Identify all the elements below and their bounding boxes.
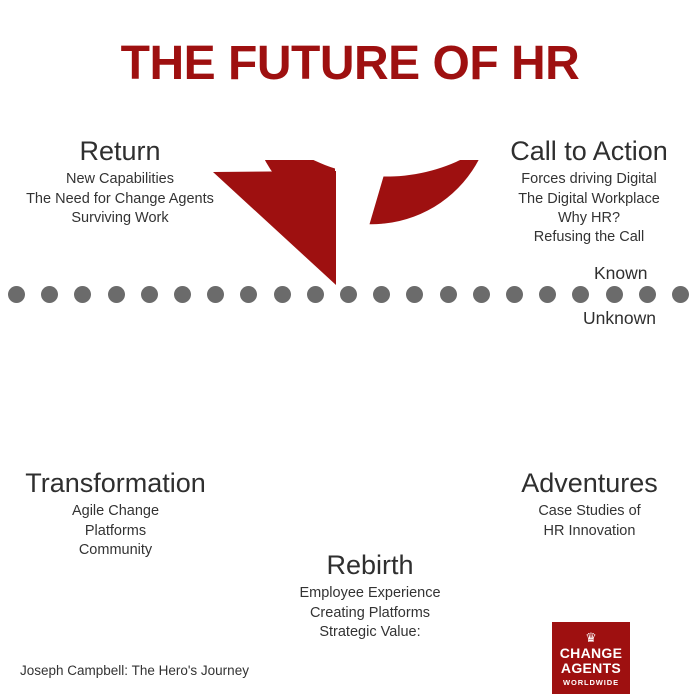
- threshold-dot: [539, 286, 556, 303]
- threshold-dot: [340, 286, 357, 303]
- threshold-dot: [473, 286, 490, 303]
- section-line: HR Innovation: [487, 522, 692, 541]
- unknown-label: Unknown: [583, 308, 656, 329]
- section-line: Community: [8, 541, 223, 560]
- threshold-dot: [406, 286, 423, 303]
- section-lines: New Capabilities The Need for Change Age…: [15, 170, 225, 228]
- section-lines: Employee Experience Creating Platforms S…: [250, 584, 490, 642]
- section-line: Employee Experience: [250, 584, 490, 603]
- section-line: Platforms: [8, 522, 223, 541]
- logo-line-3: WORLDWIDE: [552, 678, 630, 687]
- threshold-dot: [639, 286, 656, 303]
- section-lines: Forces driving Digital The Digital Workp…: [483, 170, 695, 247]
- section-heading: Adventures: [487, 468, 692, 498]
- threshold-dot: [141, 286, 158, 303]
- threshold-dot: [373, 286, 390, 303]
- logo-line-2: AGENTS: [552, 661, 630, 676]
- section-return: Return New Capabilities The Need for Cha…: [15, 136, 225, 228]
- section-call-to-action: Call to Action Forces driving Digital Th…: [483, 136, 695, 247]
- section-line: Refusing the Call: [483, 228, 695, 247]
- threshold-dot: [41, 286, 58, 303]
- section-rebirth: Rebirth Employee Experience Creating Pla…: [250, 550, 490, 642]
- threshold-dot: [74, 286, 91, 303]
- page-title: THE FUTURE OF HR: [0, 36, 700, 91]
- section-line: Case Studies of: [487, 502, 692, 521]
- threshold-dot: [108, 286, 125, 303]
- threshold-dotted-line: [0, 286, 700, 304]
- logo-line-1: CHANGE: [552, 646, 630, 661]
- change-agents-worldwide-logo: ♛ CHANGE AGENTS WORLDWIDE: [552, 622, 630, 694]
- threshold-dot: [274, 286, 291, 303]
- threshold-dot: [672, 286, 689, 303]
- infographic-canvas: THE FUTURE OF HR Known Unknown Return Ne…: [0, 0, 700, 700]
- section-adventures: Adventures Case Studies of HR Innovation: [487, 468, 692, 541]
- threshold-dot: [8, 286, 25, 303]
- section-line: Why HR?: [483, 209, 695, 228]
- section-line: Creating Platforms: [250, 604, 490, 623]
- threshold-dot: [240, 286, 257, 303]
- threshold-dot: [174, 286, 191, 303]
- section-heading: Rebirth: [250, 550, 490, 580]
- section-line: Forces driving Digital: [483, 170, 695, 189]
- section-line: The Need for Change Agents: [15, 190, 225, 209]
- section-heading: Call to Action: [483, 136, 695, 166]
- section-heading: Transformation: [8, 468, 223, 498]
- threshold-dot: [440, 286, 457, 303]
- section-line: Strategic Value:: [250, 623, 490, 642]
- threshold-dot: [572, 286, 589, 303]
- section-line: The Digital Workplace: [483, 190, 695, 209]
- section-lines: Agile Change Platforms Community: [8, 502, 223, 560]
- threshold-dot: [307, 286, 324, 303]
- threshold-dot: [506, 286, 523, 303]
- threshold-dot: [606, 286, 623, 303]
- section-lines: Case Studies of HR Innovation: [487, 502, 692, 541]
- section-line: Surviving Work: [15, 209, 225, 228]
- section-line: Agile Change: [8, 502, 223, 521]
- section-line: New Capabilities: [15, 170, 225, 189]
- section-heading: Return: [15, 136, 225, 166]
- threshold-dot: [207, 286, 224, 303]
- crown-icon: ♛: [552, 631, 630, 644]
- known-label: Known: [594, 263, 648, 284]
- credit-line: Joseph Campbell: The Hero's Journey: [20, 663, 249, 678]
- section-transformation: Transformation Agile Change Platforms Co…: [8, 468, 223, 560]
